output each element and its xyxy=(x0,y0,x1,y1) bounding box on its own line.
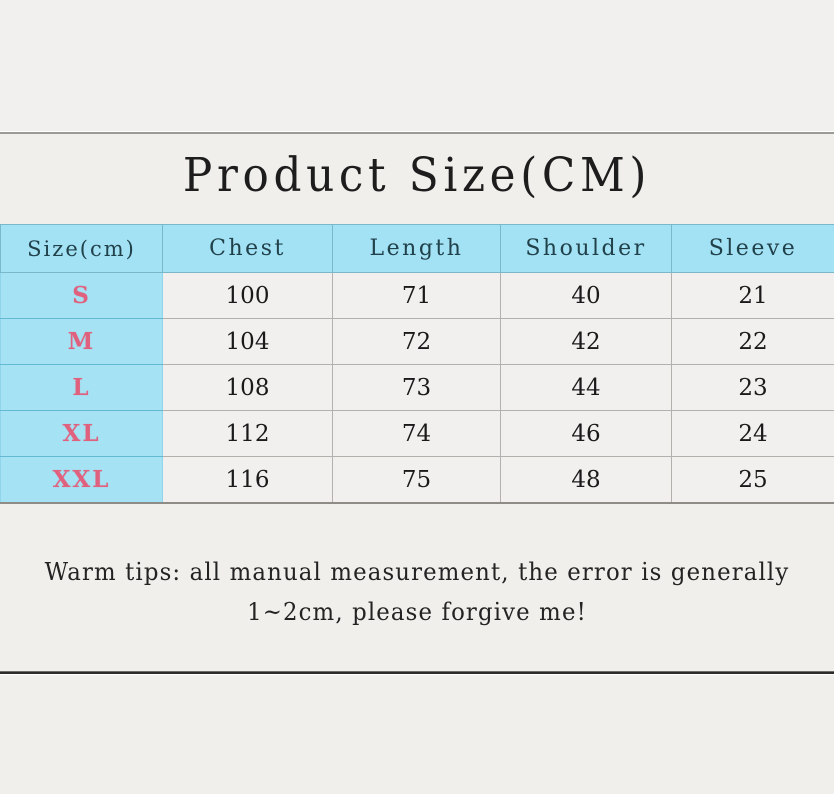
table-row: XXL 116 75 48 25 xyxy=(1,457,834,504)
table-header: Size(cm) Chest Length Shoulder Sleeve xyxy=(1,225,834,273)
cell-shoulder: 46 xyxy=(501,411,672,457)
cell-size: S xyxy=(1,273,163,319)
table-header-row: Size(cm) Chest Length Shoulder Sleeve xyxy=(1,225,834,273)
top-blank-band xyxy=(0,0,834,131)
cell-length: 71 xyxy=(333,273,501,319)
cell-length: 72 xyxy=(333,319,501,365)
cell-length: 74 xyxy=(333,411,501,457)
cell-chest: 116 xyxy=(163,457,333,504)
size-table: Size(cm) Chest Length Shoulder Sleeve S … xyxy=(0,224,834,504)
cell-sleeve: 25 xyxy=(672,457,834,504)
size-table-container: Size(cm) Chest Length Shoulder Sleeve S … xyxy=(0,224,834,504)
page-title: Product Size(CM) xyxy=(29,146,805,206)
cell-size: L xyxy=(1,365,163,411)
cell-shoulder: 40 xyxy=(501,273,672,319)
cell-shoulder: 44 xyxy=(501,365,672,411)
cell-length: 75 xyxy=(333,457,501,504)
column-header-shoulder: Shoulder xyxy=(501,225,672,273)
cell-chest: 108 xyxy=(163,365,333,411)
cell-length: 73 xyxy=(333,365,501,411)
cell-sleeve: 22 xyxy=(672,319,834,365)
column-header-sleeve: Sleeve xyxy=(672,225,834,273)
column-header-length: Length xyxy=(333,225,501,273)
warm-tips-line-1: Warm tips: all manual measurement, the e… xyxy=(45,558,790,586)
cell-chest: 100 xyxy=(163,273,333,319)
table-body: S 100 71 40 21 M 104 72 42 22 L 108 73 xyxy=(1,273,834,504)
warm-tips-line-2: 1~2cm, please forgive me! xyxy=(21,592,813,632)
cell-size: XL xyxy=(1,411,163,457)
table-row: M 104 72 42 22 xyxy=(1,319,834,365)
table-row: L 108 73 44 23 xyxy=(1,365,834,411)
cell-size: XXL xyxy=(1,457,163,504)
cell-sleeve: 24 xyxy=(672,411,834,457)
cell-sleeve: 23 xyxy=(672,365,834,411)
column-header-chest: Chest xyxy=(163,225,333,273)
cell-shoulder: 42 xyxy=(501,319,672,365)
bottom-blank-band xyxy=(0,675,834,794)
column-header-size: Size(cm) xyxy=(1,225,163,273)
cell-shoulder: 48 xyxy=(501,457,672,504)
cell-size: M xyxy=(1,319,163,365)
table-row: XL 112 74 46 24 xyxy=(1,411,834,457)
cell-chest: 104 xyxy=(163,319,333,365)
cell-chest: 112 xyxy=(163,411,333,457)
warm-tips: Warm tips: all manual measurement, the e… xyxy=(21,552,813,632)
cell-sleeve: 21 xyxy=(672,273,834,319)
table-row: S 100 71 40 21 xyxy=(1,273,834,319)
size-chart-page: Product Size(CM) Size(cm) Chest Length S… xyxy=(0,0,834,794)
